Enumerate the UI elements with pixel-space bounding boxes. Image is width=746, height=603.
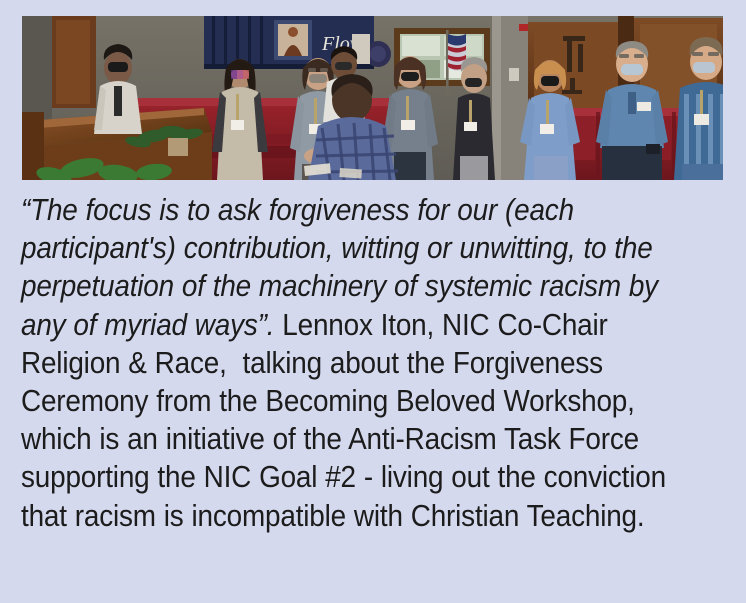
ceremony-photo-illustration: Flow: [22, 16, 723, 180]
quote-card: Flow: [0, 0, 746, 603]
ceremony-photo: Flow: [22, 16, 723, 180]
quote-caption: “The focus is to ask forgiveness for our…: [21, 191, 667, 535]
